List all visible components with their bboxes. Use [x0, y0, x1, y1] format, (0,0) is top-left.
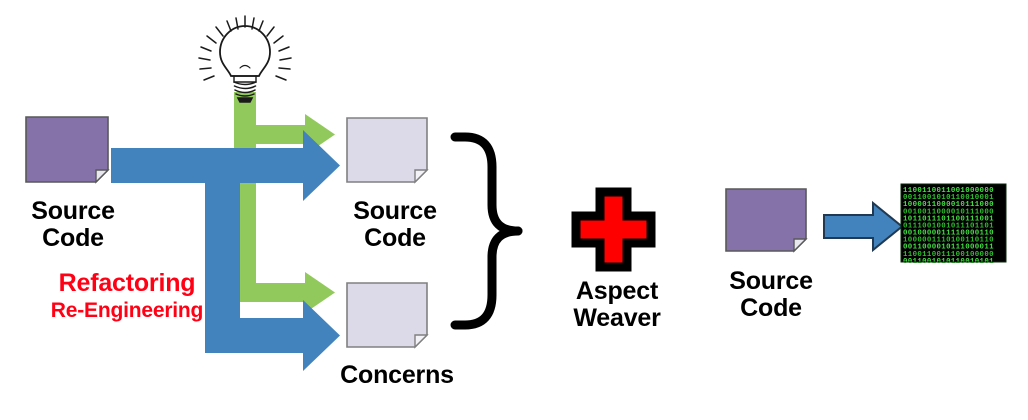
label-source-code-input: Source Code	[8, 198, 138, 252]
label-source-code-final: Source Code	[706, 268, 836, 322]
blue-arrow-lower-stem	[205, 318, 310, 353]
label-refactoring: Refactoring	[22, 270, 232, 297]
green-arrow-group	[234, 92, 335, 313]
binary-code-icon: 1100110011001000000001100101011001000110…	[901, 184, 1006, 266]
label-re-engineering: Re-Engineering	[12, 300, 242, 323]
diagram-graphics: 1100110011001000000001100101011001000110…	[0, 0, 1028, 420]
red-plus-icon	[576, 192, 651, 267]
document-source-code-input	[26, 117, 108, 182]
green-arrow-lower-stem	[234, 283, 310, 302]
green-arrow-upper-stem	[234, 125, 310, 144]
document-concerns	[347, 283, 427, 347]
document-source-code-output	[347, 118, 427, 182]
label-aspect-weaver: Aspect Weaver	[548, 278, 686, 332]
lightbulb-icon	[199, 16, 291, 102]
diagram-canvas: 1100110011001000000001100101011001000110…	[0, 0, 1028, 420]
right-curly-brace-icon	[455, 137, 518, 325]
blue-arrow-lower-head	[303, 300, 340, 371]
blue-compile-arrow	[824, 203, 902, 250]
blue-arrow-group	[111, 130, 340, 371]
blue-arrow-input-bar	[111, 148, 220, 183]
document-source-code-final	[726, 189, 806, 251]
label-source-code-output: Source Code	[330, 198, 460, 252]
label-concerns: Concerns	[322, 362, 472, 389]
